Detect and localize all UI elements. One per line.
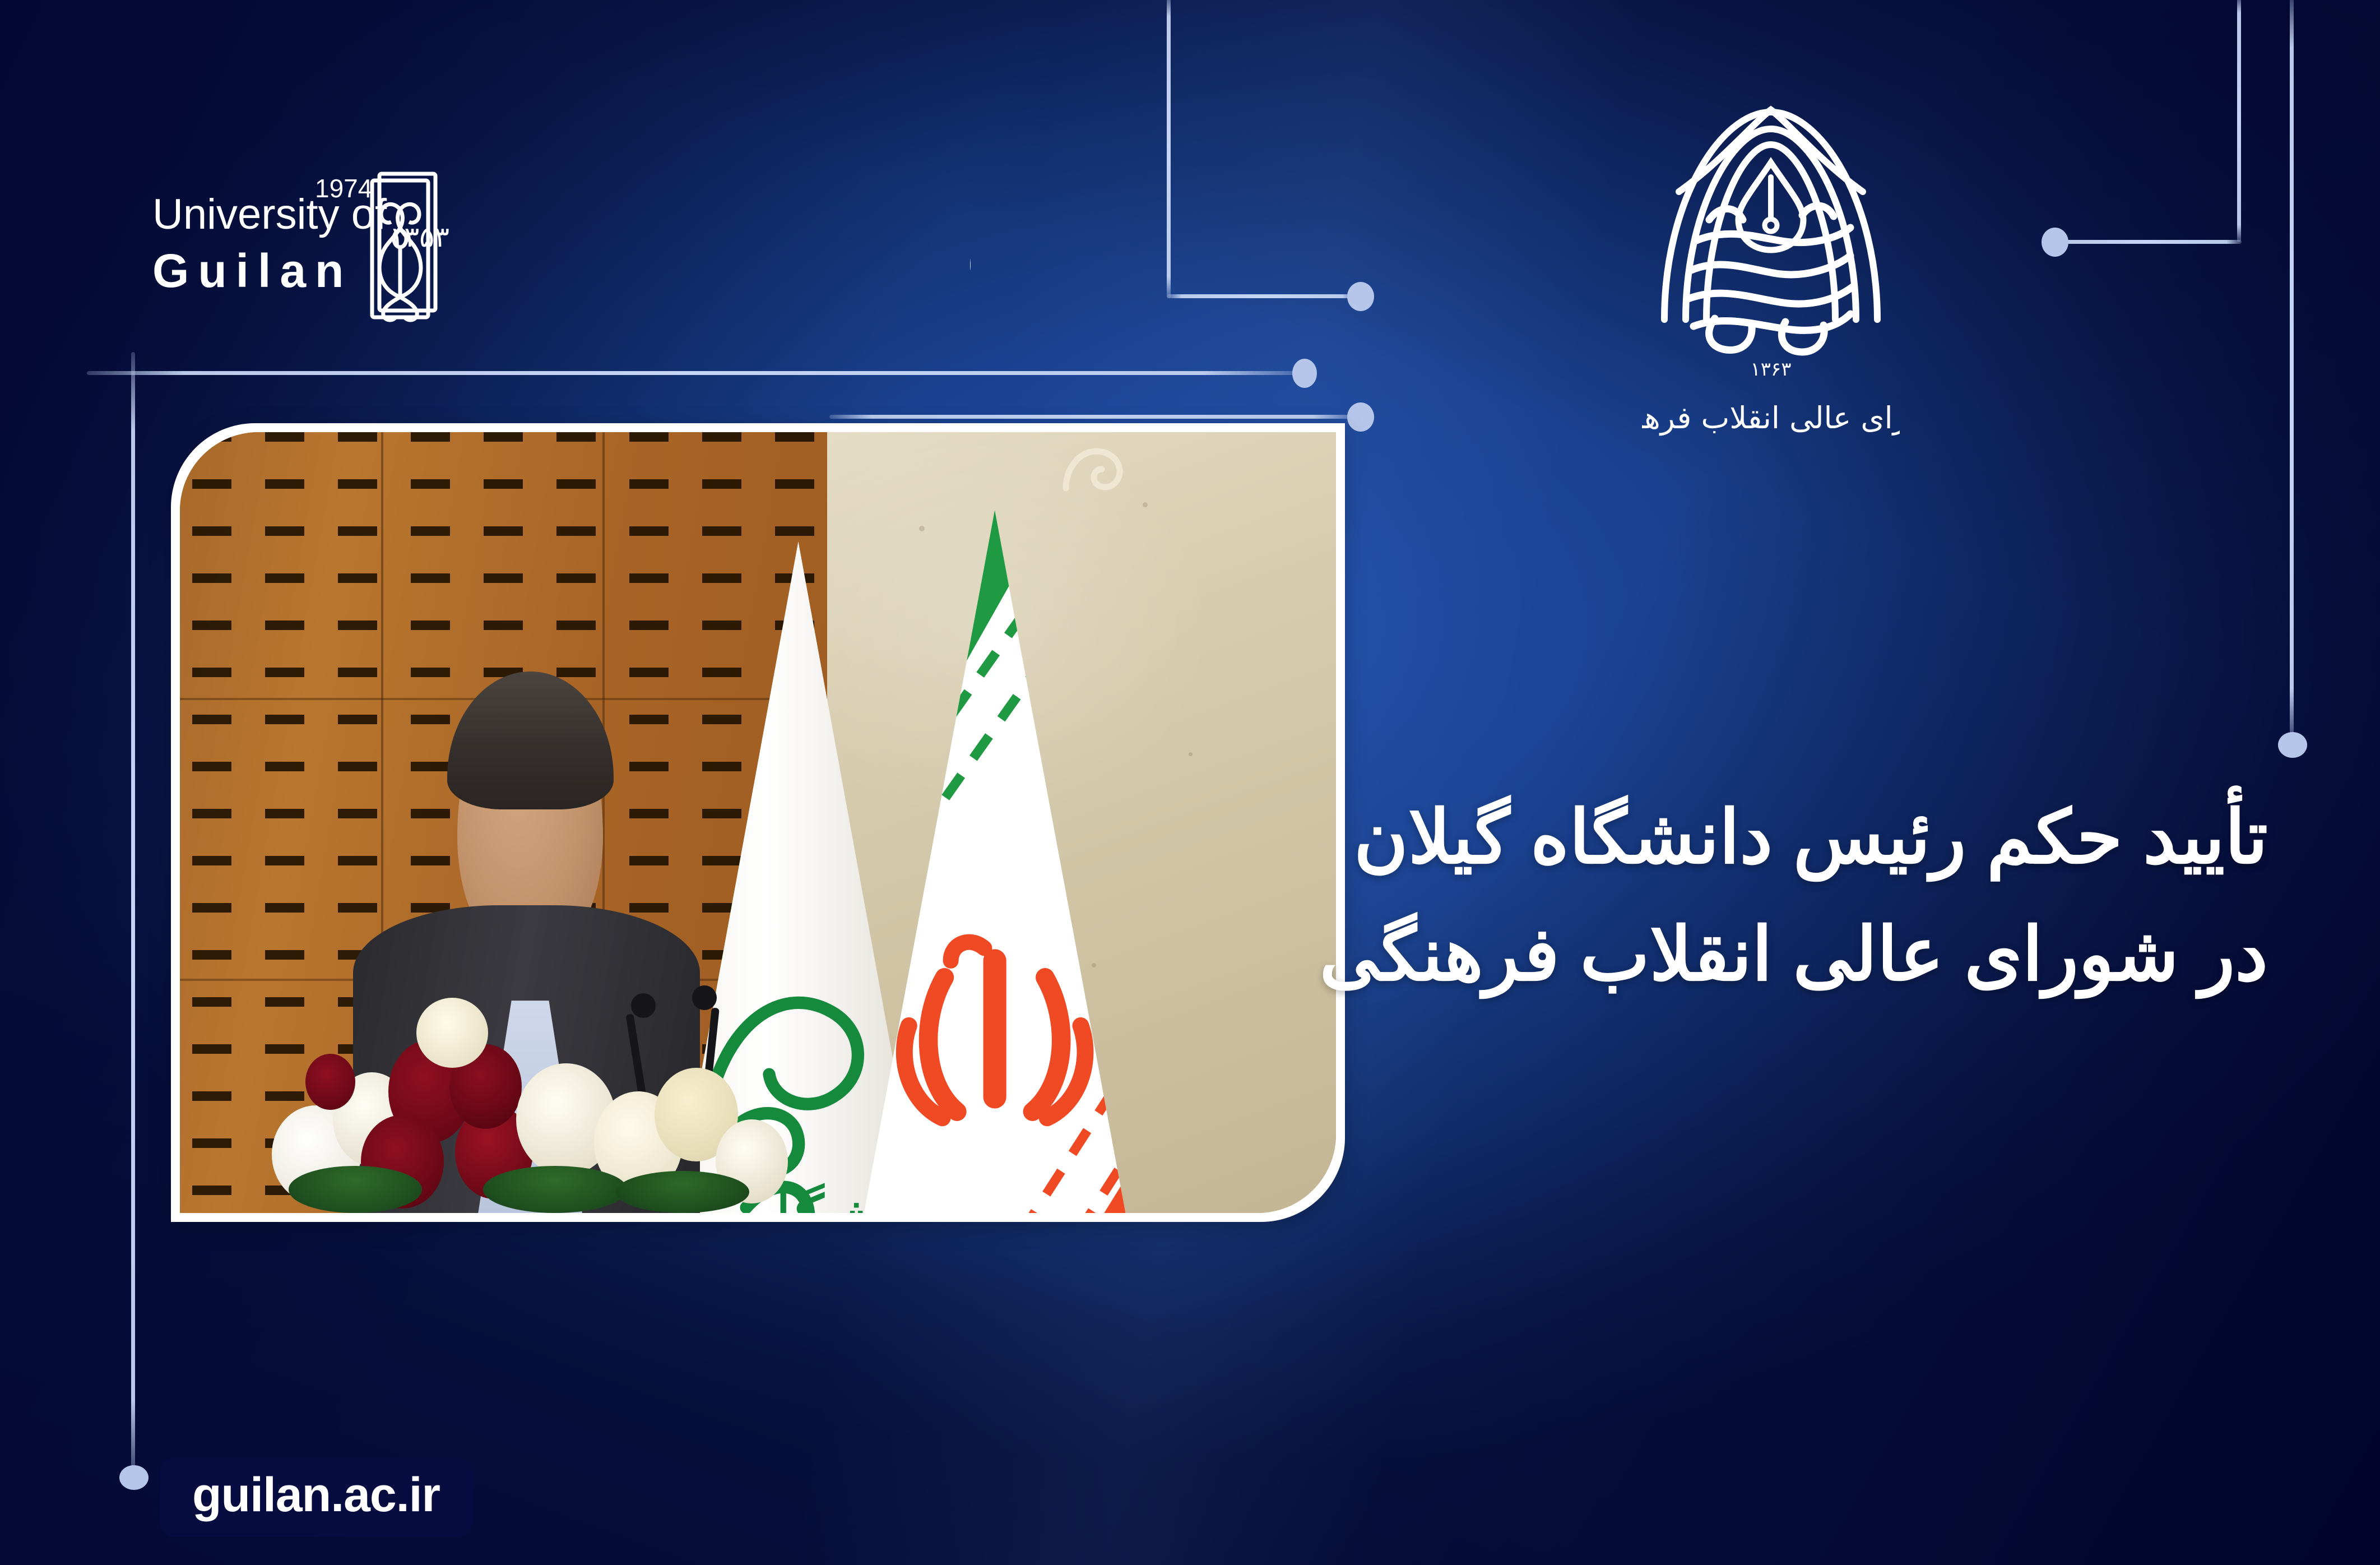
decor-dot-right-vertical-end xyxy=(2278,732,2307,758)
news-photo-frame: دانشگاه گیلان xyxy=(171,423,1345,1222)
sccr-caption: شورای عالی انقلاب فرهنگی xyxy=(1642,400,1900,436)
flag-iran xyxy=(827,510,1162,1150)
news-photo: دانشگاه گیلان xyxy=(180,432,1336,1213)
decor-line-horizontal-secondary xyxy=(829,415,1356,419)
ug-year-persian: ۱۳۵۳ xyxy=(389,221,449,253)
sccr-year: ۱۳۶۳ xyxy=(1750,358,1791,381)
headline-line-2: در شورای عالی انقلاب فرهنگی xyxy=(1170,896,2268,1013)
decor-dot-left-horizontal-end xyxy=(1292,359,1317,388)
decor-line-horizontal-left xyxy=(87,371,1300,375)
ug-year-gregorian: 1974 xyxy=(315,174,372,203)
decor-dot-secondary xyxy=(1347,402,1374,432)
decor-dot-left-vertical-end xyxy=(119,1465,149,1490)
flower-arrangement xyxy=(261,979,815,1213)
decor-line-vertical-right-long xyxy=(2290,0,2294,741)
ug-english-line2: Guilan xyxy=(152,244,352,297)
decor-dot-top-middle xyxy=(1347,282,1374,311)
headline: تأیید حکم رئیس دانشگاه گیلان در شورای عا… xyxy=(1170,779,2268,1013)
ug-persian-name: دانشگاه گیلان xyxy=(965,206,971,289)
university-of-guilan-logo: University of Guilan 1974 ۱۳۵۳ دانشگاه گ… xyxy=(147,163,971,325)
decor-dot-right-horizontal-end xyxy=(2042,228,2068,257)
decor-line-vertical-left xyxy=(131,352,135,1479)
decor-line-horizontal-top-middle xyxy=(1167,294,1357,298)
website-url-badge[interactable]: guilan.ac.ir xyxy=(160,1457,472,1537)
decor-line-vertical-right-short xyxy=(2237,0,2241,242)
decor-line-horizontal-right xyxy=(2051,240,2242,244)
supreme-council-of-cultural-revolution-logo: ۱۳۶۳ شورای عالی انقلاب فرهنگی xyxy=(1642,73,1900,454)
wall-ornament-icon xyxy=(1061,440,1129,502)
poster-canvas: University of Guilan 1974 ۱۳۵۳ دانشگاه گ… xyxy=(0,0,2380,1565)
decor-line-vertical-top-middle xyxy=(1167,0,1171,298)
headline-line-1: تأیید حکم رئیس دانشگاه گیلان xyxy=(1170,779,2268,896)
